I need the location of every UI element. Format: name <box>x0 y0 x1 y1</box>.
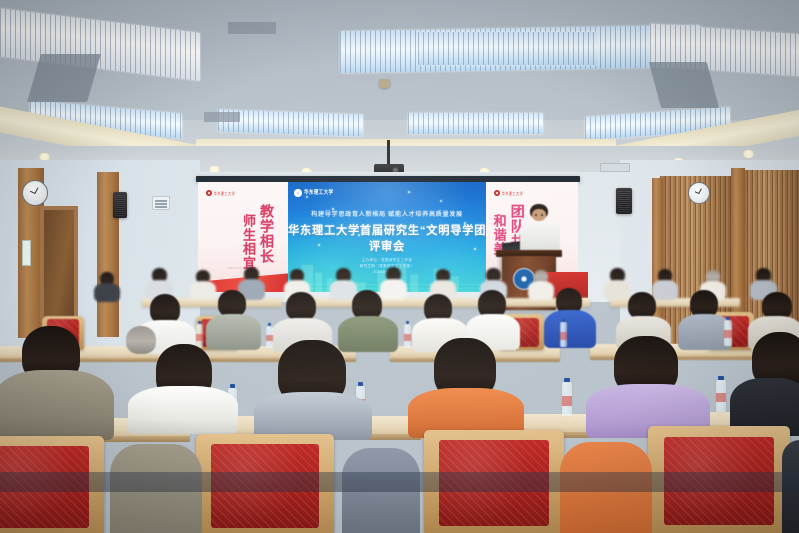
banner-right-logo-text: 华东理工大学 <box>502 190 524 196</box>
ceiling-vent <box>228 22 276 34</box>
wall-info-sign-left <box>152 196 170 210</box>
projection-title-line-1: 华东理工大学首届研究生“文明导学团队” <box>288 222 486 238</box>
university-logo-mark-icon <box>206 190 212 196</box>
university-logo-mark-icon <box>494 190 500 196</box>
audience-body <box>0 370 114 440</box>
audience-body <box>206 314 261 350</box>
ceiling-vent <box>649 62 719 108</box>
audience-body <box>338 316 398 352</box>
wall-speaker-right <box>616 188 632 214</box>
audience-head <box>286 292 316 321</box>
audience-body <box>254 392 372 440</box>
banner-left-logo: 华东理工大学 <box>206 190 235 196</box>
projection-logo: 华东理工大学 <box>294 189 333 197</box>
water-bottle <box>724 320 732 346</box>
banner-left-logo-text: 华东理工大学 <box>214 190 236 196</box>
audience-body <box>544 310 596 348</box>
ceiling-lamp <box>408 113 543 134</box>
wall-clock-right <box>688 182 710 204</box>
projection-tagline: 构建导学思政育人新格局 赋能人才培养高质量发展 <box>288 209 486 218</box>
conference-hall-photo: 华东理工大学 教学相长 师生相宜 2024.06 华东理工大学 构建导学思政育人… <box>0 0 799 533</box>
ceiling-vent <box>204 112 240 122</box>
ceiling <box>0 0 799 176</box>
audience-head <box>126 326 156 354</box>
downlight <box>742 150 755 158</box>
smoke-detector-icon <box>379 79 390 88</box>
water-bottle <box>562 382 572 416</box>
audience-near-rows <box>0 352 799 533</box>
water-bottle <box>266 326 273 348</box>
water-bottle <box>560 322 567 347</box>
audience-body <box>128 386 238 434</box>
projection-logo-text: 华东理工大学 <box>304 189 333 196</box>
water-bottle <box>196 324 203 348</box>
water-bottle <box>404 324 411 348</box>
audience-head <box>628 292 656 319</box>
wall-ac-panel <box>600 163 630 172</box>
audience-head <box>218 290 246 317</box>
ceiling-lamp <box>418 32 598 65</box>
projector-mount-rod <box>387 140 390 166</box>
wall-clock-left <box>22 180 48 206</box>
water-bottle <box>716 380 726 412</box>
wall-speaker-left <box>113 192 127 218</box>
floor-carpet <box>0 472 799 492</box>
university-logo-mark-icon <box>294 189 302 197</box>
banner-right-logo: 华东理工大学 <box>494 190 523 196</box>
